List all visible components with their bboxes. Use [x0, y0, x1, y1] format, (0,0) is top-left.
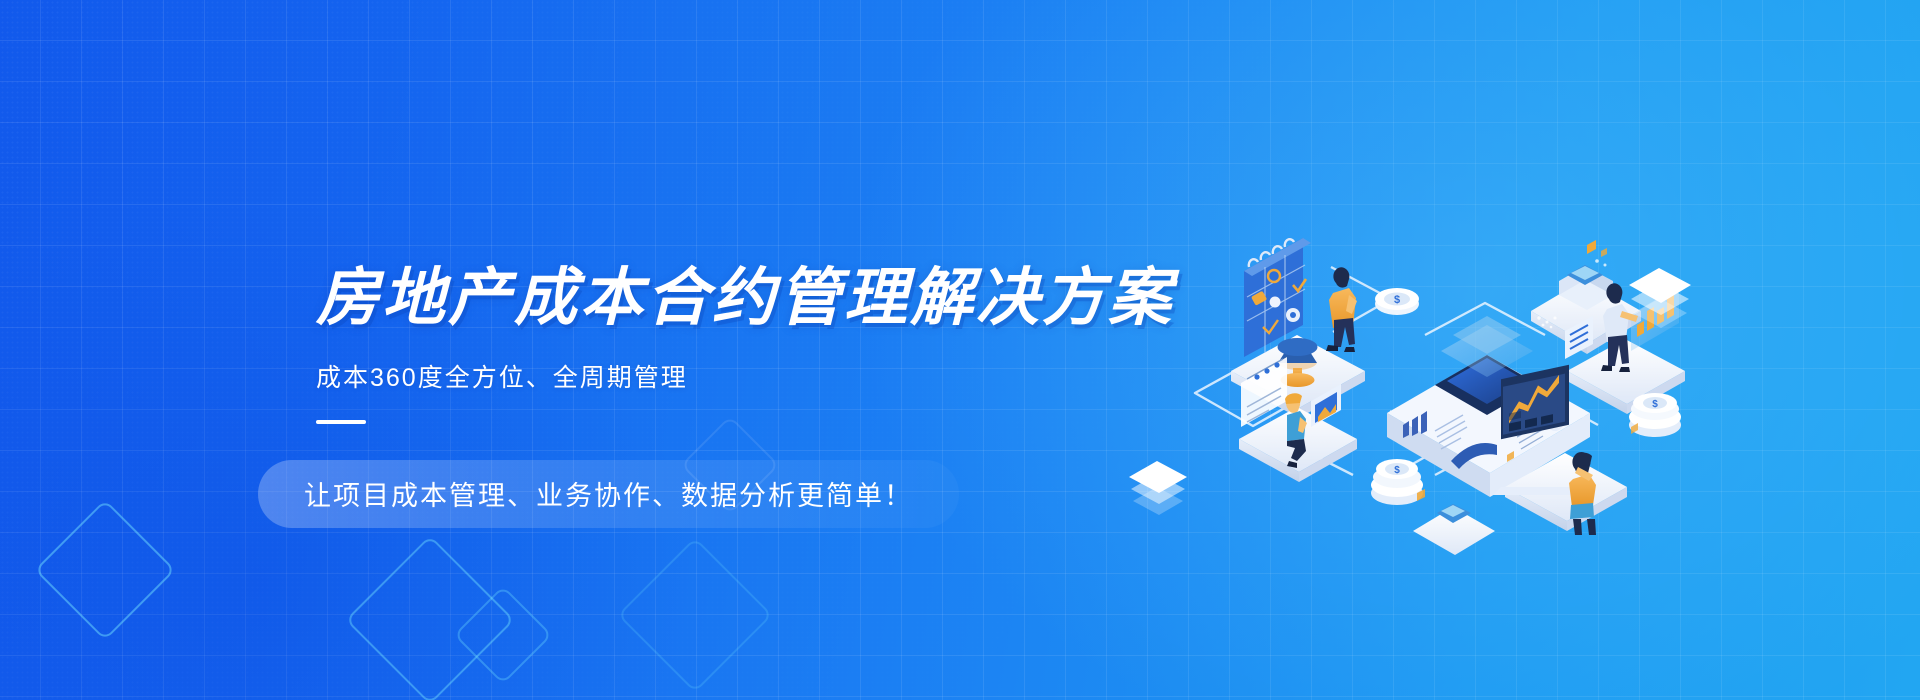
- small-database-node: [1413, 504, 1495, 555]
- decorative-rhombus-icon: [454, 586, 553, 685]
- person-standing-icon: [1326, 267, 1357, 352]
- hero-subheadline: 成本360度全方位、全周期管理: [316, 358, 1256, 394]
- decorative-rhombus-icon: [34, 499, 175, 640]
- layered-cards-icon: [1129, 461, 1187, 515]
- decorative-rhombus-icon: [617, 537, 773, 693]
- hero-banner: 房地产成本合约管理解决方案 成本360度全方位、全周期管理 让项目成本管理、业务…: [0, 0, 1920, 700]
- coin-stack-icon: $: [1371, 459, 1423, 505]
- decorative-rhombus-icon: [345, 535, 515, 700]
- svg-text:$: $: [1394, 294, 1400, 306]
- hero-tagline-wrapper: 让项目成本管理、业务协作、数据分析更简单！: [316, 460, 959, 528]
- hero-tagline-pill: 让项目成本管理、业务协作、数据分析更简单！: [258, 460, 959, 528]
- svg-text:$: $: [1394, 465, 1400, 476]
- hero-copy-block: 房地产成本合约管理解决方案 成本360度全方位、全周期管理 让项目成本管理、业务…: [316, 265, 1256, 528]
- dollar-coin-icon: $: [1375, 288, 1419, 315]
- hero-headline: 房地产成本合约管理解决方案: [316, 265, 1256, 332]
- hero-illustration: $: [1135, 175, 1695, 535]
- svg-text:$: $: [1652, 399, 1658, 410]
- hero-divider: [316, 420, 366, 424]
